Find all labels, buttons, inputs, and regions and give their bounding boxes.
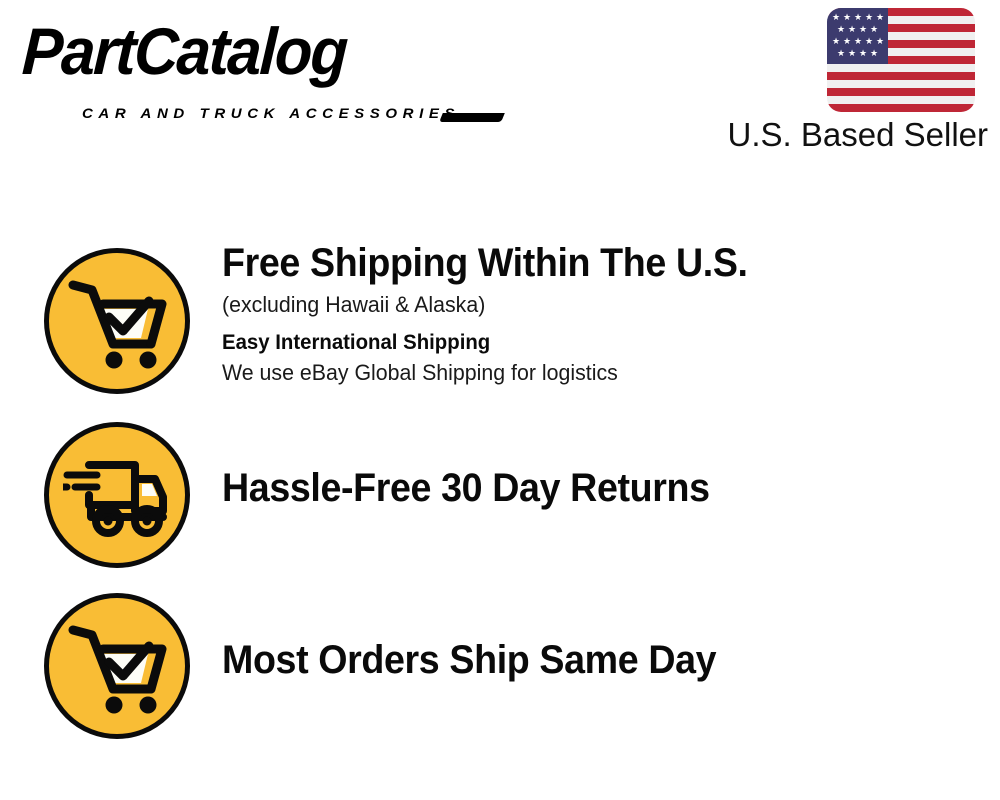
feature-secondary-subtitle: We use eBay Global Shipping for logistic… bbox=[222, 358, 959, 388]
us-based-seller-badge: ★ ★ ★ ★ ★ ★ ★ ★ ★ ★ ★ ★ ★ ★ ★ ★ ★ ★ U.S.… bbox=[718, 8, 988, 160]
us-flag-icon: ★ ★ ★ ★ ★ ★ ★ ★ ★ ★ ★ ★ ★ ★ ★ ★ ★ ★ bbox=[827, 8, 975, 112]
flag-canton: ★ ★ ★ ★ ★ ★ ★ ★ ★ ★ ★ ★ ★ ★ ★ ★ ★ ★ bbox=[827, 8, 888, 64]
feature-text-returns: Hassle-Free 30 Day Returns bbox=[222, 415, 982, 511]
feature-text-free-shipping: Free Shipping Within The U.S. (excluding… bbox=[222, 240, 982, 388]
feature-row-returns: Hassle-Free 30 Day Returns bbox=[0, 415, 1000, 575]
delivery-truck-icon bbox=[44, 422, 190, 568]
feature-title: Hassle-Free 30 Day Returns bbox=[222, 465, 936, 511]
feature-secondary-title: Easy International Shipping bbox=[222, 328, 959, 358]
feature-title: Most Orders Ship Same Day bbox=[222, 637, 936, 683]
brand-logo-swash bbox=[439, 113, 505, 122]
feature-row-free-shipping: Free Shipping Within The U.S. (excluding… bbox=[0, 240, 1000, 405]
page-header: PartCatalog CAR AND TRUCK ACCESSORIES ★ … bbox=[0, 0, 1000, 175]
feature-title: Free Shipping Within The U.S. bbox=[222, 240, 936, 286]
brand-tagline: CAR AND TRUCK ACCESSORIES bbox=[82, 106, 460, 122]
feature-text-same-day-ship: Most Orders Ship Same Day bbox=[222, 585, 982, 683]
brand-logo[interactable]: PartCatalog CAR AND TRUCK ACCESSORIES bbox=[22, 18, 492, 113]
feature-row-same-day-ship: Most Orders Ship Same Day bbox=[0, 585, 1000, 745]
brand-wordmark: PartCatalog bbox=[21, 18, 348, 84]
us-based-seller-label: U.S. Based Seller bbox=[718, 116, 990, 154]
shopping-cart-check-icon bbox=[44, 593, 190, 739]
feature-subtitle: (excluding Hawaii & Alaska) bbox=[222, 290, 959, 320]
shopping-cart-check-icon bbox=[44, 248, 190, 394]
